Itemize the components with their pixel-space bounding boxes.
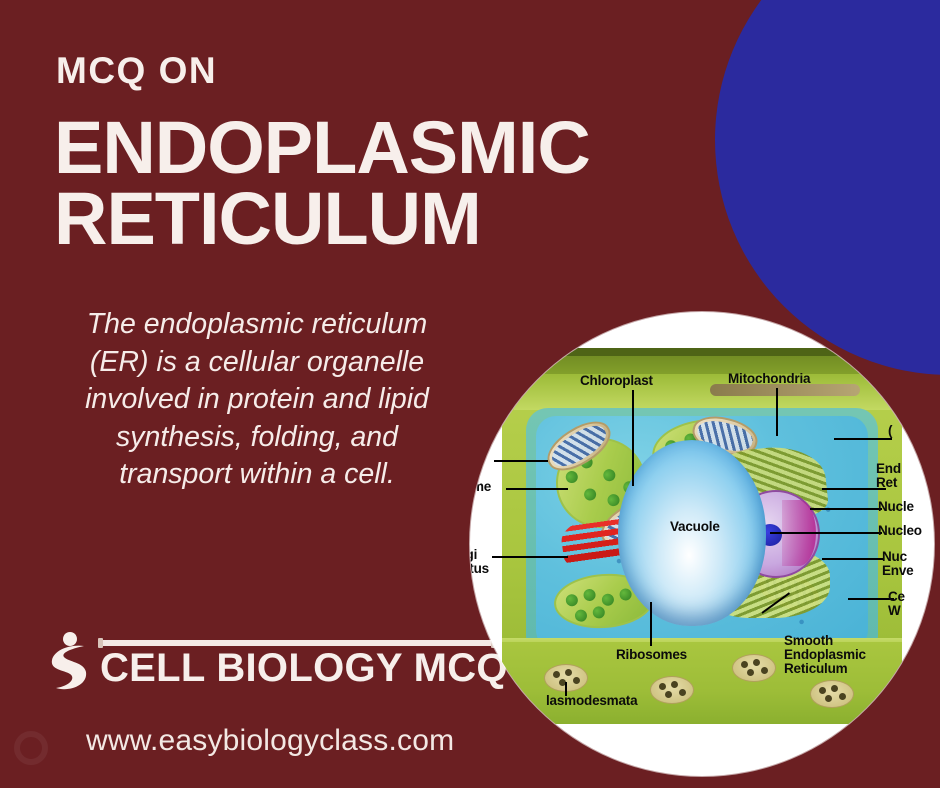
leader-line-cell-membrane: [506, 488, 568, 490]
diagram-label-rough-er: End Ret: [876, 462, 901, 490]
cell-illustration: [470, 312, 934, 776]
diagram-label-smooth-er: Smooth Endoplasmic Reticulum: [784, 634, 866, 676]
diagram-label-nucleolus: Nucleo: [878, 524, 922, 538]
diagram-label-cell-wall: Ce W: [888, 590, 905, 618]
brand-name: CELL BIOLOGY MCQ: [100, 648, 508, 688]
leader-line-chloroplast: [632, 390, 634, 486]
leader-line-nucleus: [810, 508, 882, 510]
diagram-label-left-clipped: a: [474, 452, 481, 466]
diagram-label-vacuole: Vacuole: [670, 520, 720, 534]
leader-line-golgi: [492, 556, 568, 558]
plasmodesma-shape: [650, 676, 694, 704]
plasmodesma-shape: [732, 654, 776, 682]
diagram-label-nuclear-envelope: Nuc Enve: [882, 550, 913, 578]
cell-wall-top-edge: [544, 348, 860, 356]
diagram-label-plasmodesmata: lasmodesmata: [546, 694, 637, 708]
leader-line-left-a: [494, 460, 548, 462]
website-url: www.easybiologyclass.com: [86, 726, 454, 756]
description-text: The endoplasmic reticulum (ER) is a cell…: [62, 306, 452, 494]
kicker-text: MCQ ON: [56, 52, 217, 89]
diagram-label-cell-membrane: me: [472, 480, 491, 494]
diagram-label-golgi-apparatus: lgi atus: [470, 548, 489, 576]
leader-line-mitochondria: [776, 388, 778, 436]
leader-line-right-top: [834, 438, 892, 440]
plant-cell-diagram: Chloroplast Mitochondria Vacuole Ribosom…: [470, 312, 934, 776]
leader-line-nuclear-envelope: [822, 558, 884, 560]
leader-line-ribosomes: [650, 602, 652, 646]
page-title-line-2: RETICULUM: [54, 183, 674, 254]
leader-line-nucleolus: [770, 532, 882, 534]
diagram-label-nucleus: Nucle: [878, 500, 914, 514]
poster-canvas: MCQ ON ENDOPLASMIC RETICULUM The endopla…: [0, 0, 940, 788]
diagram-label-mitochondria: Mitochondria: [728, 372, 810, 386]
diagram-label-chloroplast: Chloroplast: [580, 374, 653, 388]
watermark-ring-icon: [14, 731, 48, 765]
diagram-label-ribosomes: Ribosomes: [616, 648, 687, 662]
diagram-label-right-top-clipped: (: [888, 424, 892, 438]
page-title: ENDOPLASMIC RETICULUM: [54, 112, 674, 254]
brand-lockup: CELL BIOLOGY MCQ: [40, 628, 480, 696]
plasmodesma-shape: [810, 680, 854, 708]
running-figure-logo-icon: [40, 630, 92, 692]
